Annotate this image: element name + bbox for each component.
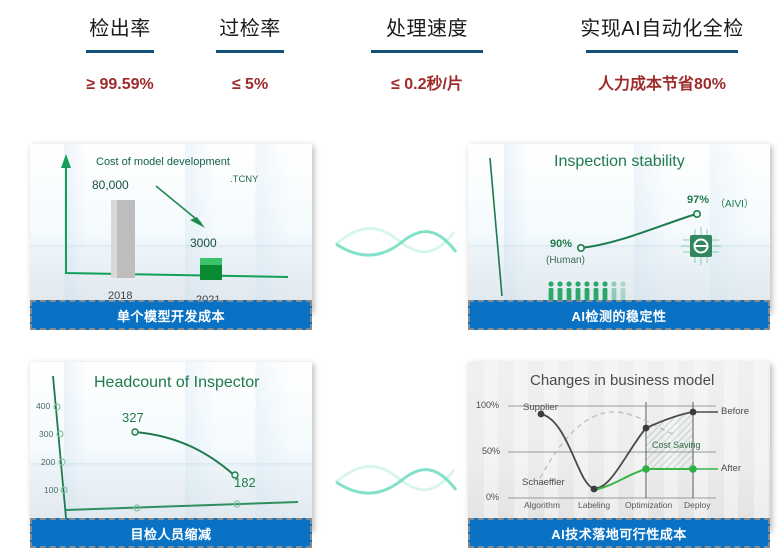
chart-headcount-of-inspector: Headcount of Inspector 400 300 200 100 3…	[30, 362, 312, 530]
chart-canvas	[30, 144, 312, 312]
annotation-schaeffler: Schaeffler	[522, 477, 565, 488]
metric-value: ≤ 5%	[198, 75, 302, 95]
ai-chip-icon	[681, 227, 721, 265]
metric-title: 检出率	[58, 16, 182, 42]
people-row-icon	[548, 281, 625, 302]
chart-unit-note: .TCNY	[230, 174, 259, 185]
chart-title: Headcount of Inspector	[94, 374, 259, 392]
point-label-aivi: 97%	[687, 194, 709, 206]
chart-changes-in-business-model: Changes in business model 100% 50% 0% Su…	[468, 362, 770, 530]
metric-overkill-rate: 过检率 ≤ 5%	[198, 16, 302, 95]
x-tick-deploy: Deploy	[684, 500, 710, 510]
panel-caption-business-model[interactable]: AI技术落地可行性成本	[468, 518, 770, 548]
point-label-327: 327	[122, 410, 144, 425]
point-note-aivi: （AIVI）	[715, 195, 754, 210]
chart-title: Inspection stability	[554, 153, 685, 171]
chart-title: Cost of model development	[96, 156, 230, 168]
metric-detection-rate: 检出率 ≥ 99.59%	[58, 16, 182, 95]
metric-title: 过检率	[198, 16, 302, 42]
wave-connector-bottom	[334, 452, 460, 510]
legend-before: Before	[721, 406, 749, 417]
metric-value: 人力成本节省80%	[562, 75, 762, 95]
bar-value-label-2021: 3000	[190, 236, 217, 250]
point-note-human: (Human)	[546, 255, 585, 266]
panel-caption-model-dev-cost[interactable]: 单个模型开发成本	[30, 300, 312, 330]
metric-value: ≥ 99.59%	[58, 75, 182, 95]
y-tick-0: 0%	[486, 492, 499, 502]
chart-inspection-stability: Inspection stability 90% (Human) 97% （AI…	[468, 144, 770, 312]
metric-title: 实现AI自动化全检	[562, 16, 762, 42]
caption-text: 目检人员缩减	[130, 524, 211, 543]
metric-underline	[371, 50, 483, 53]
y-tick-300: 300	[39, 429, 53, 439]
y-tick-50: 50%	[482, 446, 500, 456]
x-tick-optimization: Optimization	[625, 500, 672, 510]
metric-processing-speed: 处理速度 ≤ 0.2秒/片	[352, 16, 502, 95]
caption-text: AI检测的稳定性	[571, 306, 666, 325]
y-tick-400: 400	[36, 401, 50, 411]
metric-underline	[86, 50, 154, 53]
y-tick-200: 200	[41, 457, 55, 467]
caption-text: 单个模型开发成本	[117, 306, 225, 325]
y-tick-100: 100%	[476, 400, 499, 410]
annotation-cost-saving: Cost Saving	[652, 440, 701, 450]
metric-underline	[586, 50, 738, 53]
x-tick-algorithm: Algorithm	[524, 500, 560, 510]
panel-caption-inspection-stability[interactable]: AI检测的稳定性	[468, 300, 770, 330]
metric-value: ≤ 0.2秒/片	[352, 75, 502, 95]
panel-model-dev-cost: Cost of model development .TCNY 80,000 3…	[30, 144, 312, 330]
wave-connector-top	[334, 214, 460, 272]
bar-value-label-2018: 80,000	[92, 178, 129, 192]
metric-underline	[216, 50, 284, 53]
chart-title: Changes in business model	[530, 372, 714, 389]
metric-title: 处理速度	[352, 16, 502, 42]
slide-root: 检出率 ≥ 99.59% 过检率 ≤ 5% 处理速度 ≤ 0.2秒/片 实现AI…	[0, 0, 784, 558]
point-label-human: 90%	[550, 238, 572, 250]
point-label-182: 182	[234, 475, 256, 490]
metrics-row: 检出率 ≥ 99.59% 过检率 ≤ 5% 处理速度 ≤ 0.2秒/片 实现AI…	[0, 0, 784, 130]
chart-cost-of-model-development: Cost of model development .TCNY 80,000 3…	[30, 144, 312, 312]
panel-caption-headcount[interactable]: 目检人员缩减	[30, 518, 312, 548]
metric-ai-full-inspection: 实现AI自动化全检 人力成本节省80%	[562, 16, 762, 95]
panel-headcount: Headcount of Inspector 400 300 200 100 3…	[30, 362, 312, 548]
x-tick-labeling: Labeling	[578, 500, 610, 510]
panel-business-model: Changes in business model 100% 50% 0% Su…	[468, 362, 770, 548]
y-tick-100: 100	[44, 485, 58, 495]
legend-after: After	[721, 463, 741, 474]
caption-text: AI技术落地可行性成本	[551, 524, 687, 543]
panel-inspection-stability: Inspection stability 90% (Human) 97% （AI…	[468, 144, 770, 330]
annotation-supplier: Supplier	[523, 402, 558, 413]
